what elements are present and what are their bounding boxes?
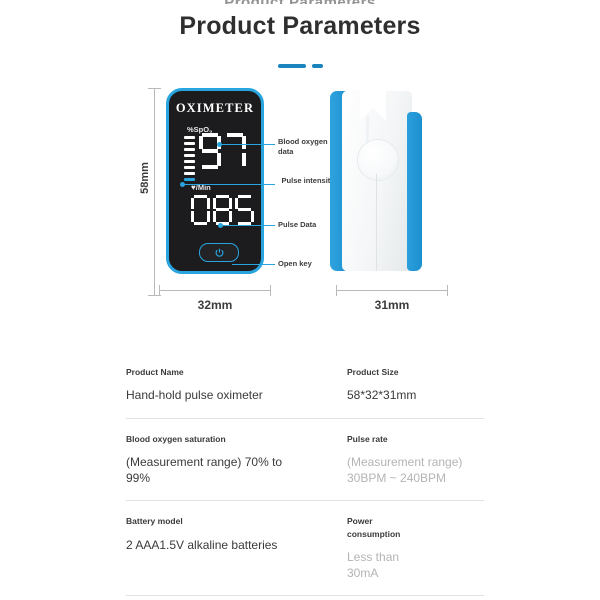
spec-value: Less than 30mA (347, 549, 433, 581)
title-divider (0, 64, 600, 68)
dimension-width-label: 32mm (159, 298, 271, 312)
table-row: Product Name Hand-hold pulse oximeter Pr… (126, 352, 484, 419)
specifications-table: Product Name Hand-hold pulse oximeter Pr… (126, 352, 484, 596)
spec-value: 2 AAA1.5V alkaline batteries (126, 537, 295, 553)
pulse-reading (191, 195, 254, 225)
divider-dash-short (312, 64, 323, 68)
table-row: Blood oxygen saturation (Measurement ran… (126, 419, 484, 502)
table-row: Battery model 2 AAA1.5V alkaline batteri… (126, 501, 484, 596)
bargraph-segment (184, 142, 195, 145)
spec-cell-left: Battery model 2 AAA1.5V alkaline batteri… (126, 515, 305, 581)
spec-cell-left: Product Name Hand-hold pulse oximeter (126, 366, 305, 404)
spec-value: 58*32*31mm (347, 387, 474, 403)
bargraph-segment (184, 166, 195, 169)
dimension-line-horizontal (159, 290, 271, 291)
spec-key: Pulse rate (347, 433, 474, 445)
spec-value: (Measurement range) 70% to 99% (126, 454, 295, 486)
spo2-reading (199, 133, 246, 169)
product-parameters-page: Product Parameters Product Parameters 58… (0, 0, 600, 600)
device-diagram: 58mm OXIMETER %SpO2 (0, 84, 600, 332)
spec-key: Blood oxygen saturation (126, 433, 295, 445)
power-icon (215, 248, 224, 257)
callout-line-pulse-data (220, 225, 275, 226)
seven-segment-digit (224, 133, 246, 169)
dimension-tick-left (159, 285, 160, 296)
dimension-tick-right (270, 285, 271, 296)
callout-line-open-key (232, 264, 275, 265)
power-button[interactable] (199, 243, 239, 262)
dimension-tick-left (336, 285, 337, 296)
seven-segment-digit (191, 195, 210, 225)
pulse-intensity-bargraph (184, 136, 195, 184)
seven-segment-digit (213, 195, 232, 225)
spec-value: (Measurement range) 30BPM ~ 240BPM (347, 454, 474, 486)
callout-line-pulse-intensity (182, 184, 275, 185)
spec-cell-left: Blood oxygen saturation (Measurement ran… (126, 433, 305, 487)
dimension-depth-label: 31mm (336, 298, 448, 312)
dimension-width: 32mm (159, 290, 271, 320)
callout-pulse-data: Pulse Data (278, 220, 338, 230)
callout-blood-oxygen-data: Blood oxygen data (278, 137, 338, 157)
callout-label: Open key (278, 259, 312, 268)
page-title: Product Parameters (0, 12, 600, 41)
callout-line-blood-oxygen (219, 144, 275, 145)
bargraph-segment (184, 154, 195, 157)
callout-open-key: Open key (278, 259, 338, 269)
dimension-line-horizontal (336, 290, 448, 291)
spec-key: Product Size (347, 366, 474, 378)
callout-pulse-intensity: Pulse intensity (280, 176, 336, 186)
dimension-height: 58mm (137, 88, 159, 296)
spec-value: Hand-hold pulse oximeter (126, 387, 295, 403)
dimension-line-vertical (154, 88, 155, 296)
dimension-depth: 31mm (336, 290, 448, 320)
bargraph-segment (184, 148, 195, 151)
spec-key: Power consumption (347, 515, 421, 540)
bargraph-segment (184, 160, 195, 163)
oximeter-side-view (330, 88, 422, 274)
side-view-hinge-knob (358, 140, 398, 180)
callout-label: Pulse intensity (282, 176, 335, 185)
divider-dash-long (278, 64, 306, 68)
seven-segment-digit (199, 133, 221, 169)
dimension-height-label: 58mm (139, 152, 151, 204)
device-brand-label: OXIMETER (169, 101, 261, 116)
oximeter-front-view: OXIMETER %SpO2 (166, 88, 264, 274)
spec-cell-right: Product Size 58*32*31mm (305, 366, 484, 404)
bargraph-segment-active (184, 178, 195, 181)
pretitle-text: Product Parameters (0, 0, 600, 4)
callout-label: Blood oxygen data (278, 137, 328, 156)
spec-key: Battery model (126, 515, 295, 527)
seven-segment-digit (235, 195, 254, 225)
bargraph-segment (184, 172, 195, 175)
bargraph-segment (184, 136, 195, 139)
dimension-tick-right (447, 285, 448, 296)
spec-cell-right: Pulse rate (Measurement range) 30BPM ~ 2… (305, 433, 484, 487)
callout-label: Pulse Data (278, 220, 316, 229)
side-view-right-edge (407, 112, 422, 271)
spec-key: Product Name (126, 366, 295, 378)
spec-cell-right: Power consumption Less than 30mA (305, 515, 484, 581)
side-view-seam (376, 174, 377, 271)
